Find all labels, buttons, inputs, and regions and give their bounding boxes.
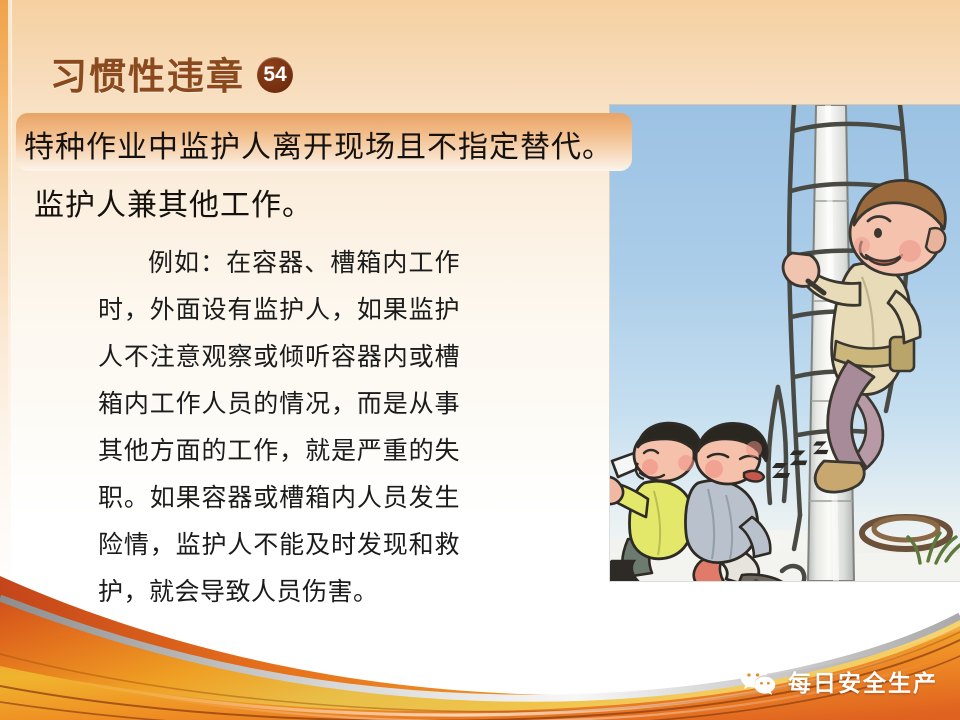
- watermark: 每日安全生产: [739, 664, 938, 698]
- page-title: 习惯性违章 54: [50, 46, 293, 100]
- cartoon-pole-climbing-illustration: [610, 105, 960, 581]
- body-paragraph: 例如：在容器、槽箱内工作时，外面设有监护人，如果监护人不注意观察或倾听容器内或槽…: [98, 240, 460, 616]
- headline-line-2: 监护人兼其他工作。: [34, 180, 313, 224]
- left-edge-stripe: [0, 0, 11, 600]
- headline-line-1: 特种作业中监护人离开现场且不指定替代。: [24, 122, 613, 166]
- page-title-label: 习惯性违章: [50, 46, 245, 100]
- item-number-badge: 54: [257, 57, 293, 93]
- slide-canvas: 习惯性违章 54 特种作业中监护人离开现场且不指定替代。 监护人兼其他工作。 例…: [0, 0, 960, 720]
- wechat-logo: [739, 666, 777, 696]
- left-edge-stripe-highlight: [8, 0, 12, 600]
- watermark-label: 每日安全生产: [788, 664, 938, 698]
